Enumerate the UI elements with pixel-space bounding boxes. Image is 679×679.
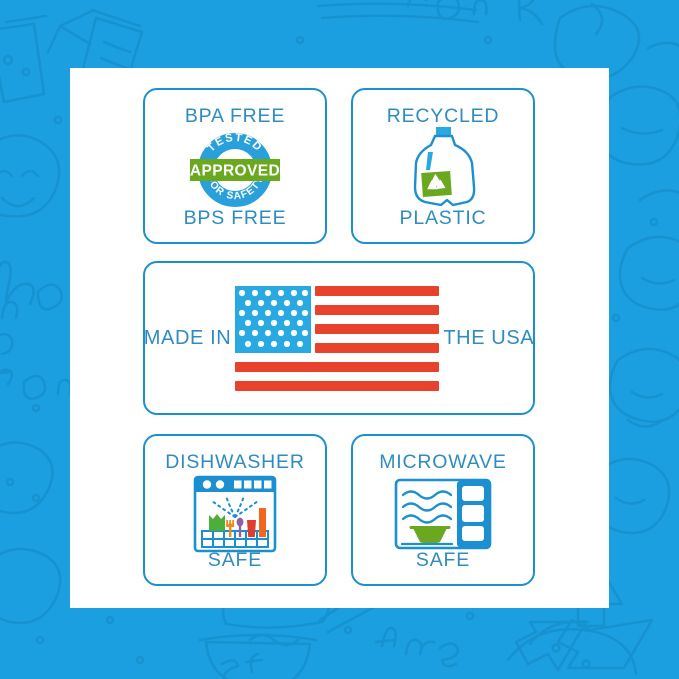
the-usa-label: THE USA	[443, 327, 534, 350]
made-in-label: MADE IN	[144, 327, 232, 350]
microwave-icon	[353, 476, 533, 552]
panel-made-in-usa: MADE IN	[143, 261, 535, 415]
dishwasher-bottom-label: SAFE	[145, 549, 325, 572]
panel-dishwasher-safe: DISHWASHER	[143, 434, 327, 586]
panel-recycled-plastic: RECYCLED PLASTIC	[351, 88, 535, 244]
svg-text:APPROVED: APPROVED	[190, 163, 280, 180]
bpa-free-bottom-label: BPS FREE	[145, 207, 325, 230]
usa-flag-icon	[235, 282, 439, 394]
milk-jug-recycle-icon	[353, 128, 533, 208]
microwave-bottom-label: SAFE	[353, 549, 533, 572]
bpa-free-top-label: BPA FREE	[185, 105, 285, 128]
tested-approved-seal-icon: TESTED FOR SAFETY APPROVED	[145, 134, 325, 202]
dishwasher-top-label: DISHWASHER	[165, 451, 304, 474]
microwave-top-label: MICROWAVE	[379, 451, 506, 474]
dishwasher-icon	[145, 474, 325, 554]
page-root: BPA FREE TESTED FOR SAFETY APPROVED	[0, 0, 679, 679]
recycled-bottom-label: PLASTIC	[353, 207, 533, 230]
panel-bpa-free: BPA FREE TESTED FOR SAFETY APPROVED	[143, 88, 327, 244]
panel-microwave-safe: MICROWAVE	[351, 434, 535, 586]
